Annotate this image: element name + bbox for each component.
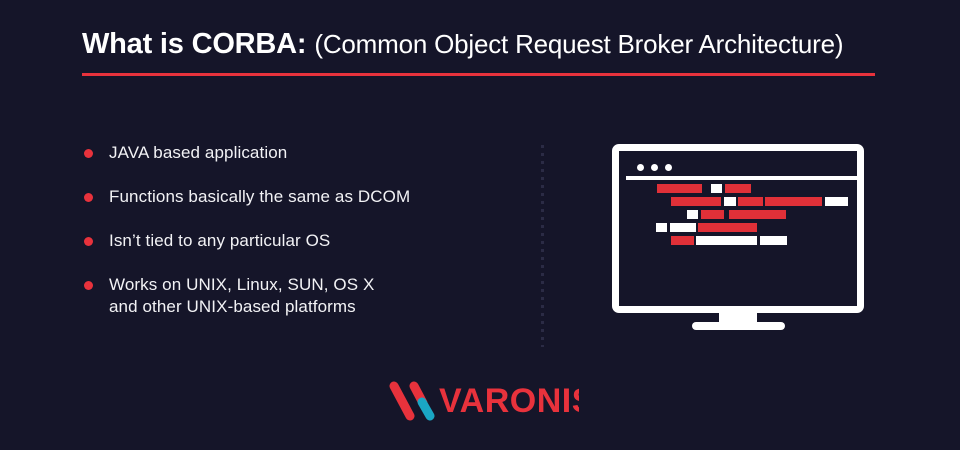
bullet-dot-icon (84, 281, 93, 290)
svg-text:VARONIS: VARONIS (439, 382, 579, 420)
monitor-frame (612, 144, 864, 313)
title-main: What is CORBA: (82, 28, 306, 61)
code-token-red (765, 197, 822, 206)
title-underline (82, 73, 875, 76)
code-token-red (701, 210, 724, 219)
bullet-dot-icon (84, 149, 93, 158)
code-token-white (696, 236, 757, 245)
title-subtitle: (Common Object Request Broker Architectu… (314, 29, 843, 60)
code-token-red (725, 184, 751, 193)
list-item: Functions basically the same as DCOM (84, 186, 514, 208)
code-line (626, 184, 864, 193)
code-token-white (670, 223, 696, 232)
code-token-white (825, 197, 848, 206)
code-line (626, 210, 864, 219)
bullet-dot-icon (84, 193, 93, 202)
list-item-label: Isn’t tied to any particular OS (109, 230, 330, 252)
vertical-dotted-divider (541, 145, 544, 347)
list-item-label: Functions basically the same as DCOM (109, 186, 410, 208)
page-title: What is CORBA: (Common Object Request Br… (82, 28, 882, 78)
list-item: JAVA based application (84, 142, 514, 164)
varonis-wordmark: VARONIS (439, 382, 579, 420)
code-line (626, 197, 864, 206)
code-line (626, 223, 864, 232)
code-token-white (687, 210, 698, 219)
bullet-dot-icon (84, 237, 93, 246)
window-dot-icon (665, 164, 672, 171)
list-item: Works on UNIX, Linux, SUN, OS X and othe… (84, 274, 514, 318)
code-token-red (738, 197, 763, 206)
list-item-label: Works on UNIX, Linux, SUN, OS X and othe… (109, 274, 374, 318)
computer-monitor-illustration (612, 144, 864, 330)
monitor-base (692, 322, 785, 330)
code-token-red (657, 184, 702, 193)
code-token-red (671, 236, 694, 245)
varonis-logo: VARONIS (386, 380, 578, 422)
code-token-white (711, 184, 722, 193)
code-token-white (656, 223, 667, 232)
monitor-screen-code-area (626, 184, 864, 313)
code-token-red (698, 223, 757, 232)
varonis-logo-mark-icon (386, 380, 438, 422)
code-token-red (671, 197, 721, 206)
bullet-list: JAVA based application Functions basical… (84, 142, 514, 340)
code-token-white (760, 236, 787, 245)
slide-canvas: What is CORBA: (Common Object Request Br… (0, 0, 960, 450)
code-token-white (724, 197, 736, 206)
monitor-titlebar (626, 158, 864, 180)
list-item: Isn’t tied to any particular OS (84, 230, 514, 252)
window-dot-icon (637, 164, 644, 171)
window-dot-icon (651, 164, 658, 171)
code-token-red (729, 210, 786, 219)
list-item-label: JAVA based application (109, 142, 287, 164)
code-line (626, 236, 864, 245)
